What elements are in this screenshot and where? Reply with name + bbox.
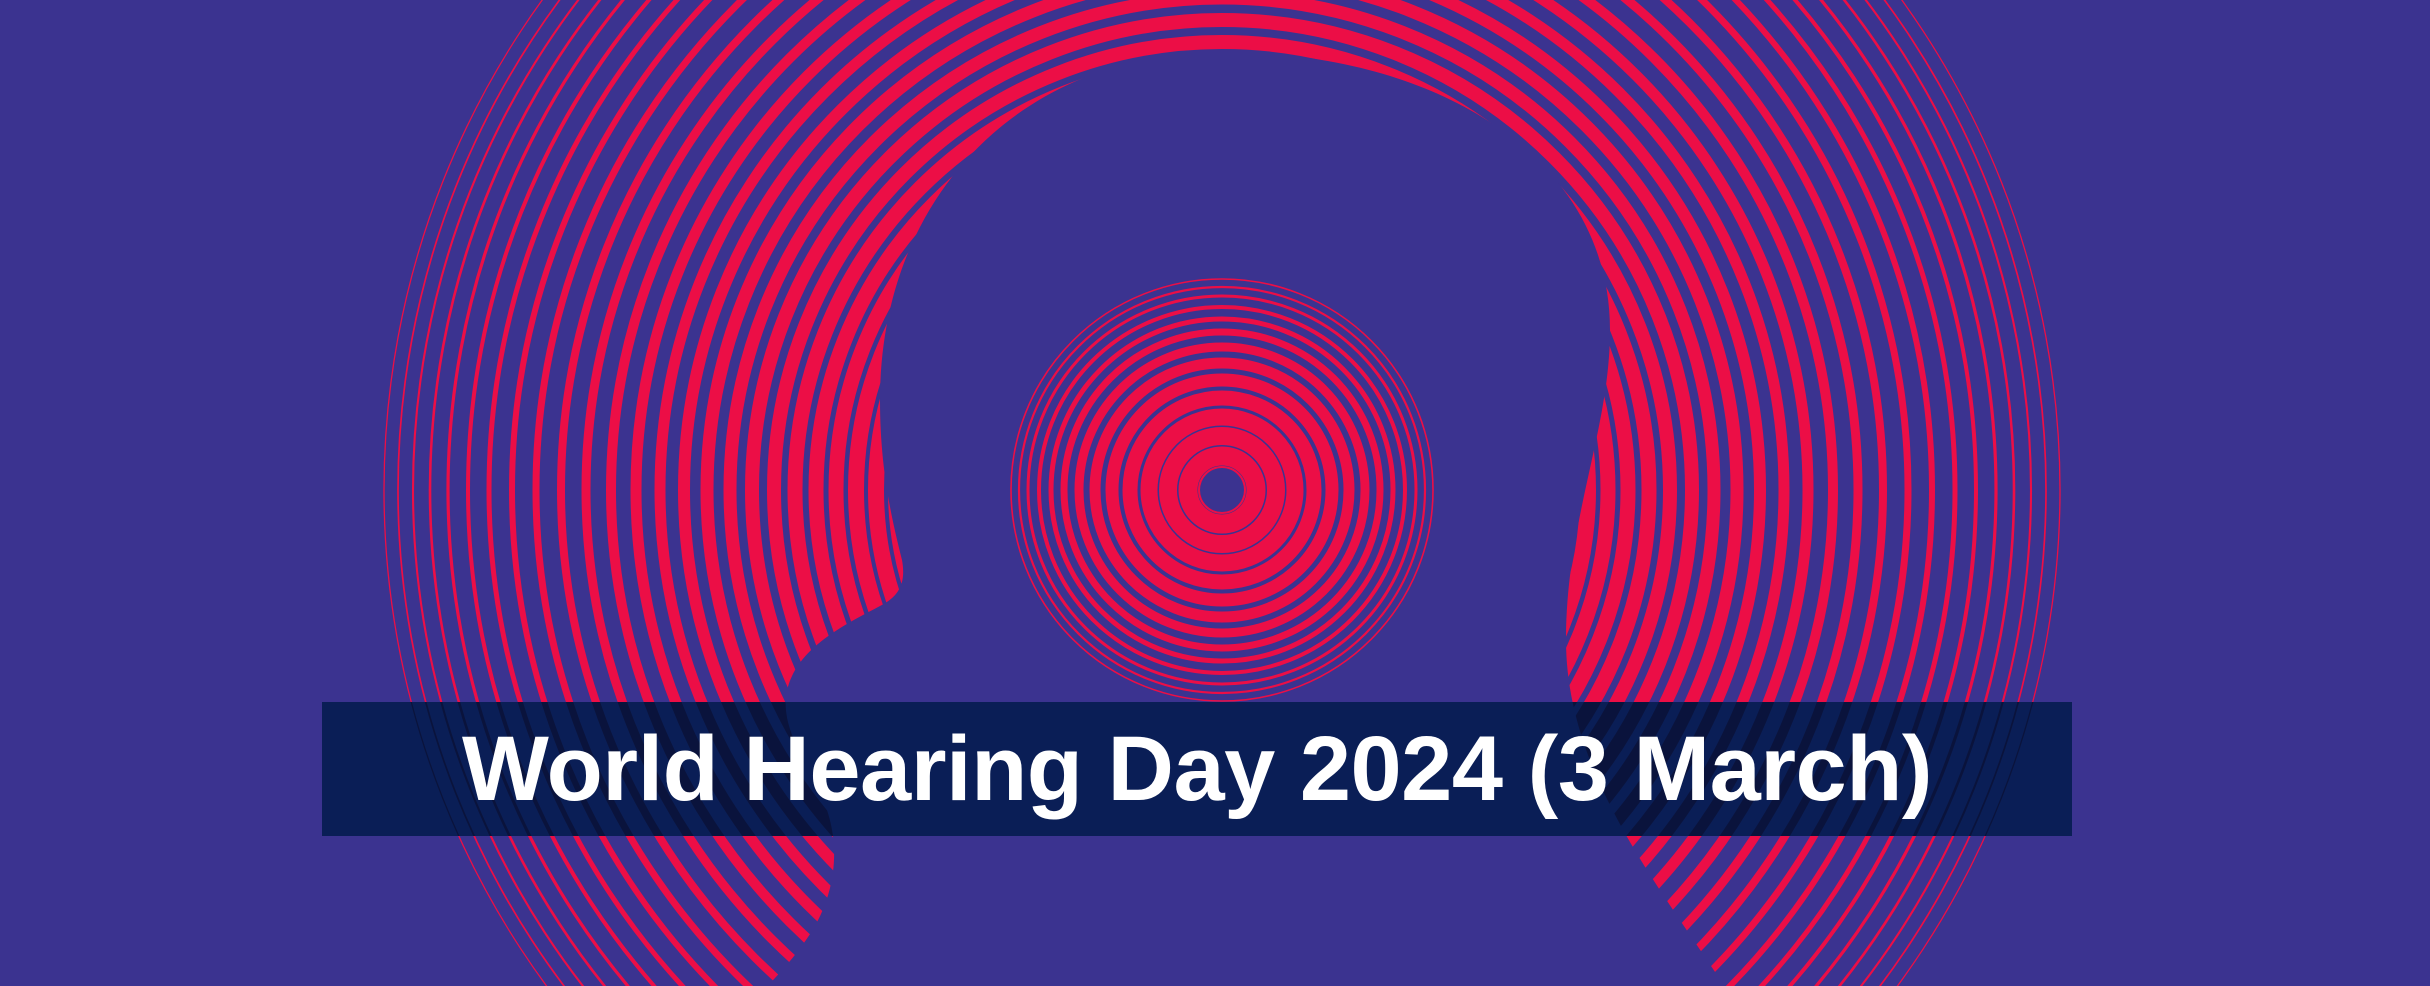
title-banner: World Hearing Day 2024 (3 March) [322, 702, 2072, 836]
world-hearing-day-banner: World Hearing Day 2024 (3 March) [0, 0, 2430, 986]
page-title: World Hearing Day 2024 (3 March) [462, 723, 1932, 815]
sound-wave-head-illustration [0, 0, 2430, 986]
